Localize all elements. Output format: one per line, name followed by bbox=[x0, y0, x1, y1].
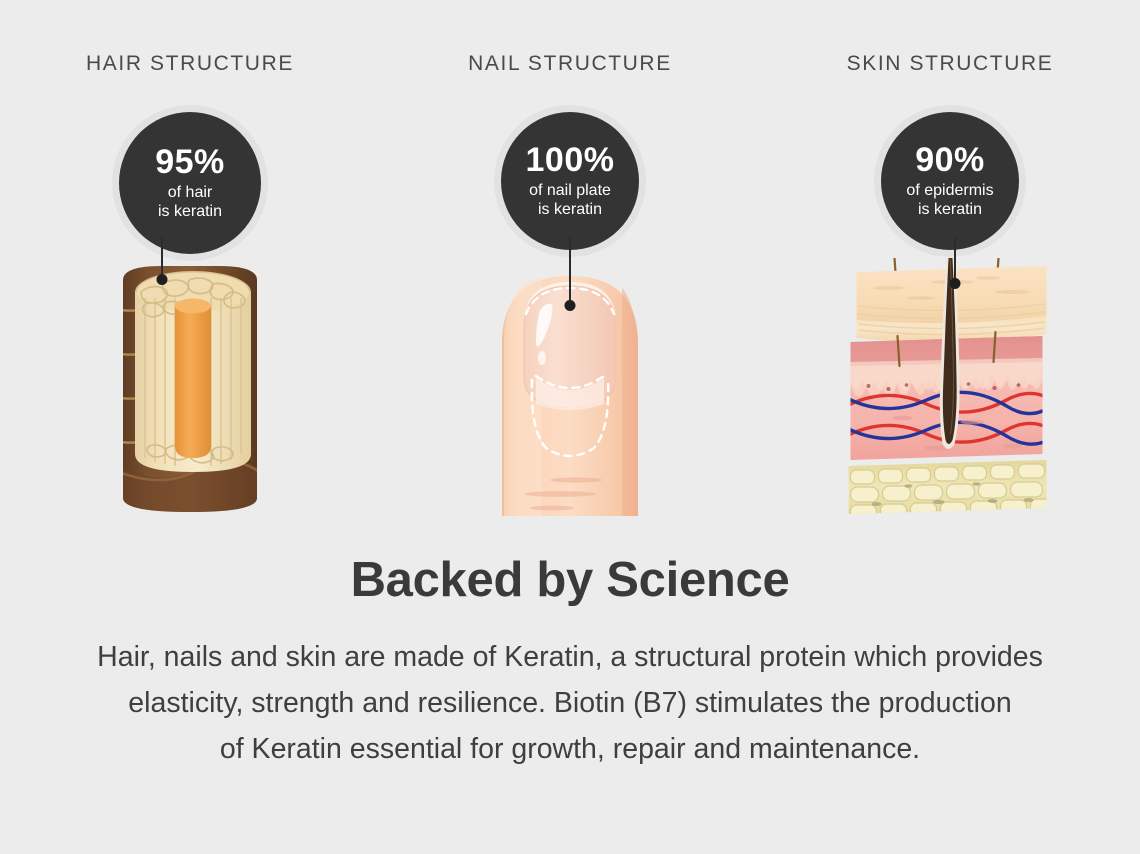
panel-title-hair: HAIR STRUCTURE bbox=[86, 52, 294, 76]
illustration-skin bbox=[843, 258, 1058, 518]
badge-ring-skin: 90% of epidermis is keratin bbox=[874, 105, 1026, 257]
badge-subtitle-hair-line1: of hair bbox=[168, 184, 212, 203]
bottom-content: Backed by Science Hair, nails and skin a… bbox=[0, 552, 1140, 772]
panel-nail: NAIL STRUCTURE 100% of nail plate is ker… bbox=[380, 0, 760, 530]
badge-nail: 100% of nail plate is keratin bbox=[494, 105, 646, 257]
illustration-hair bbox=[105, 258, 275, 520]
badge-circle-hair: 95% of hair is keratin bbox=[119, 112, 261, 254]
badge-subtitle-nail-line2: is keratin bbox=[538, 201, 602, 220]
pointer-line-nail bbox=[569, 238, 571, 306]
badge-hair: 95% of hair is keratin bbox=[112, 105, 268, 261]
badge-percent-nail: 100% bbox=[526, 142, 615, 179]
badge-subtitle-nail-line1: of nail plate bbox=[529, 182, 611, 201]
badge-ring-nail: 100% of nail plate is keratin bbox=[494, 105, 646, 257]
pointer-line-hair bbox=[161, 238, 163, 280]
headline: Backed by Science bbox=[0, 552, 1140, 608]
paragraph-line-1: Hair, nails and skin are made of Keratin… bbox=[40, 634, 1100, 680]
skin-cross-section-svg bbox=[843, 258, 1058, 518]
panel-hair: HAIR STRUCTURE 95% of hair is keratin bbox=[0, 0, 380, 530]
pointer-line-skin bbox=[954, 238, 956, 284]
badge-subtitle-hair-line2: is keratin bbox=[158, 203, 222, 222]
panel-skin: SKIN STRUCTURE 90% of epidermis is kerat… bbox=[760, 0, 1140, 530]
badge-skin: 90% of epidermis is keratin bbox=[874, 105, 1026, 257]
badge-circle-skin: 90% of epidermis is keratin bbox=[881, 112, 1019, 250]
paragraph-line-2: elasticity, strength and resilience. Bio… bbox=[40, 680, 1100, 726]
badge-percent-hair: 95% bbox=[155, 144, 225, 181]
hair-cross-section-svg bbox=[105, 258, 275, 520]
badge-circle-nail: 100% of nail plate is keratin bbox=[501, 112, 639, 250]
paragraph-line-3: of Keratin essential for growth, repair … bbox=[40, 726, 1100, 772]
badge-ring-hair: 95% of hair is keratin bbox=[112, 105, 268, 261]
panel-title-nail: NAIL STRUCTURE bbox=[468, 52, 672, 76]
badge-subtitle-skin-line2: is keratin bbox=[918, 201, 982, 220]
badge-percent-skin: 90% bbox=[915, 142, 985, 179]
structure-panels: HAIR STRUCTURE 95% of hair is keratin bbox=[0, 0, 1140, 530]
keratin-infographic: HAIR STRUCTURE 95% of hair is keratin bbox=[0, 0, 1140, 854]
badge-subtitle-skin-line1: of epidermis bbox=[906, 182, 993, 201]
body-paragraph: Hair, nails and skin are made of Keratin… bbox=[40, 634, 1100, 772]
panel-title-skin: SKIN STRUCTURE bbox=[847, 52, 1054, 76]
